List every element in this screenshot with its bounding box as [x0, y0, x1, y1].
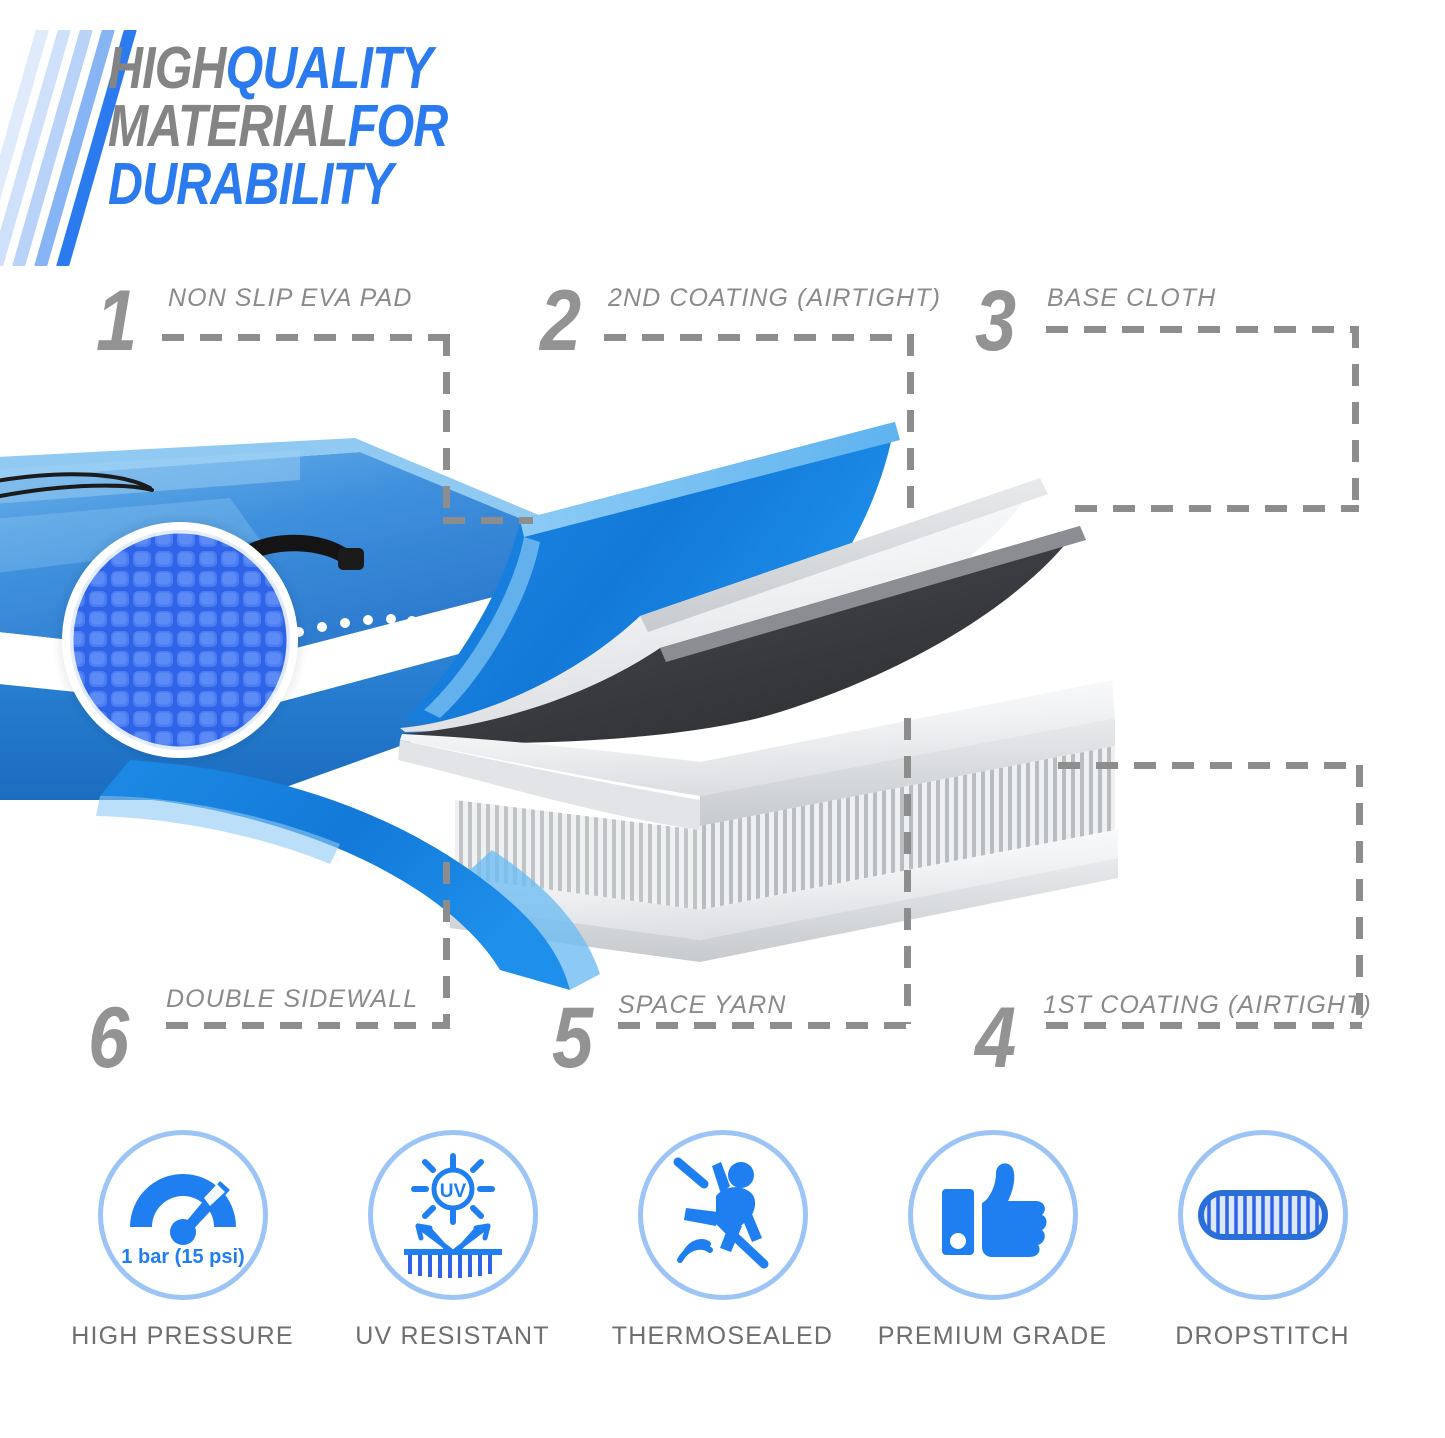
feature-high-pressure[interactable]: 1 bar (15 psi) HIGH PRESSURE: [58, 1130, 308, 1351]
title-text: HIGHQUALITY MATERIALFOR DURABILITY: [108, 40, 628, 213]
leader-1-vertical: [443, 334, 450, 524]
thumbs-up-icon: [928, 1155, 1058, 1275]
title-accent-slashes: [0, 34, 120, 259]
feature-uv-resistant[interactable]: UV UV RESISTANT: [328, 1130, 578, 1351]
callout-2: 2 2ND COATING (AIRTIGHT): [540, 278, 960, 378]
leader-2-horizontal: [604, 334, 914, 341]
feature-label-dropstitch: DROPSTITCH: [1175, 1322, 1350, 1351]
leader-6-horizontal: [166, 1022, 450, 1029]
feature-circle-premium-grade: [908, 1130, 1078, 1300]
callout-3-label: BASE CLOTH: [1047, 284, 1216, 313]
callout-1-number: 1: [96, 278, 137, 364]
leader-4-vertical: [1356, 765, 1363, 1023]
title-word-quality: QUALITY: [226, 35, 433, 101]
exploded-board-illustration: [0, 330, 1445, 1090]
feature-circle-thermosealed: [638, 1130, 808, 1300]
callout-5-label: SPACE YARN: [618, 991, 786, 1020]
gauge-value-text: 1 bar (15 psi): [121, 1246, 244, 1268]
feature-premium-grade[interactable]: PREMIUM GRADE: [868, 1130, 1118, 1351]
leader-4-horizontal: [1046, 1022, 1362, 1029]
callout-5: 5 SPACE YARN: [552, 985, 952, 1085]
callout-1-label: NON SLIP EVA PAD: [168, 284, 413, 313]
callout-1: 1 NON SLIP EVA PAD: [96, 278, 476, 378]
callout-4-number: 4: [975, 995, 1016, 1081]
feature-circle-dropstitch: [1178, 1130, 1348, 1300]
callout-6: 6 DOUBLE SIDEWALL: [88, 985, 488, 1085]
callout-5-number: 5: [552, 995, 593, 1081]
title-line-2: MATERIALFOR: [108, 98, 534, 156]
callout-6-number: 6: [88, 995, 129, 1081]
leader-5-vertical: [904, 718, 911, 1024]
feature-dropstitch[interactable]: DROPSTITCH: [1138, 1130, 1388, 1351]
title-word-high: HIGH: [108, 35, 226, 101]
leader-5-horizontal: [618, 1022, 912, 1029]
leader-4-tip: [1058, 762, 1358, 769]
feature-circle-high-pressure: 1 bar (15 psi): [98, 1130, 268, 1300]
title-word-for: FOR: [348, 93, 448, 159]
leader-3-tip: [1075, 505, 1359, 512]
feature-label-premium-grade: PREMIUM GRADE: [878, 1322, 1108, 1351]
feature-circle-uv-resistant: UV: [368, 1130, 538, 1300]
pressure-gauge-icon: 1 bar (15 psi): [118, 1155, 248, 1275]
header-title-block: HIGHQUALITY MATERIALFOR DURABILITY: [0, 34, 620, 259]
eva-pad-texture-zoom: [52, 512, 308, 768]
feature-label-uv-resistant: UV RESISTANT: [355, 1322, 550, 1351]
title-word-durability: DURABILITY: [108, 151, 393, 217]
callout-2-label: 2ND COATING (AIRTIGHT): [608, 284, 941, 313]
leader-1-tip: [443, 517, 533, 524]
title-word-material: MATERIAL: [108, 93, 348, 159]
leader-6-vertical: [443, 862, 450, 1024]
title-line-1: HIGHQUALITY: [108, 40, 534, 98]
uv-sun-icon: UV: [388, 1150, 518, 1280]
feature-label-thermosealed: THERMOSEALED: [612, 1322, 833, 1351]
leader-2-vertical: [907, 334, 914, 514]
callout-4: 4 1ST COATING (AIRTIGHT): [975, 985, 1405, 1085]
dropstitch-pill-icon: [1193, 1175, 1333, 1255]
feature-badge-row: 1 bar (15 psi) HIGH PRESSURE UV: [0, 1130, 1445, 1420]
callout-3-number: 3: [975, 278, 1016, 364]
leader-3-horizontal: [1046, 326, 1356, 333]
slip-person-icon: [658, 1150, 788, 1280]
feature-label-high-pressure: HIGH PRESSURE: [71, 1322, 294, 1351]
leader-3-vertical: [1352, 326, 1359, 510]
feature-thermosealed[interactable]: THERMOSEALED: [598, 1130, 848, 1351]
callout-4-label: 1ST COATING (AIRTIGHT): [1043, 991, 1372, 1020]
title-line-3: DURABILITY: [108, 156, 534, 214]
leader-1-horizontal: [162, 334, 450, 341]
callout-6-label: DOUBLE SIDEWALL: [166, 985, 418, 1014]
double-sidewall-blue-fold: [96, 760, 600, 990]
uv-sun-text: UV: [439, 1181, 466, 1202]
callout-2-number: 2: [540, 278, 581, 364]
